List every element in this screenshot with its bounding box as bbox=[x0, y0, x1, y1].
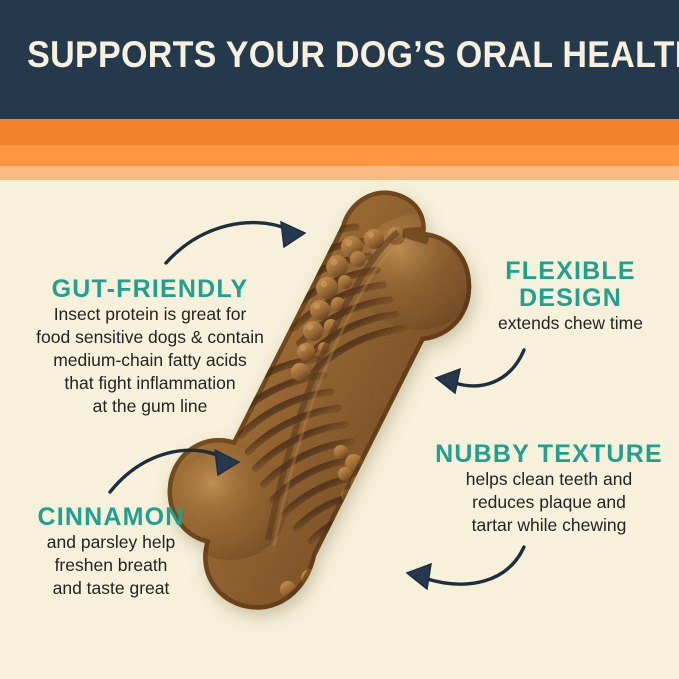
feature-heading-flexible-design-line1: FLEXIBLE bbox=[462, 258, 679, 285]
feature-text-line: Insect protein is great for bbox=[0, 303, 300, 326]
arrow-flexible-design-icon bbox=[436, 350, 524, 393]
feature-text-line: helps clean teeth and bbox=[419, 468, 679, 491]
feature-gut-friendly: GUT-FRIENDLY Insect protein is great for… bbox=[0, 275, 300, 418]
arrow-gut-friendly-icon bbox=[166, 222, 305, 263]
feature-heading-nubby-texture: NUBBY TEXTURE bbox=[419, 440, 679, 468]
feature-cinnamon: CINNAMON and parsley help freshen breath… bbox=[0, 503, 222, 600]
feature-text-line: food sensitive dogs & contain bbox=[0, 326, 300, 349]
feature-nubby-texture: NUBBY TEXTURE helps clean teeth and redu… bbox=[419, 440, 679, 537]
feature-flexible-design: FLEXIBLE DESIGN extends chew time bbox=[462, 258, 679, 335]
feature-heading-gut-friendly: GUT-FRIENDLY bbox=[0, 275, 300, 303]
feature-heading-flexible-design-line2: DESIGN bbox=[462, 285, 679, 312]
feature-text-line: that fight inflammation bbox=[0, 372, 300, 395]
feature-heading-cinnamon: CINNAMON bbox=[0, 503, 222, 531]
feature-text-line: and taste great bbox=[0, 577, 222, 600]
feature-text-line: freshen breath bbox=[0, 554, 222, 577]
feature-text-line: medium-chain fatty acids bbox=[0, 349, 300, 372]
feature-text-line: and parsley help bbox=[0, 531, 222, 554]
feature-text-line: tartar while chewing bbox=[419, 514, 679, 537]
product-infographic: SUPPORTS YOUR DOG’S ORAL HEALTH bbox=[0, 0, 679, 679]
arrow-nubby-texture-icon bbox=[407, 547, 524, 589]
feature-text-line: reduces plaque and bbox=[419, 491, 679, 514]
feature-text-line: at the gum line bbox=[0, 395, 300, 418]
feature-text-line: extends chew time bbox=[462, 312, 679, 335]
